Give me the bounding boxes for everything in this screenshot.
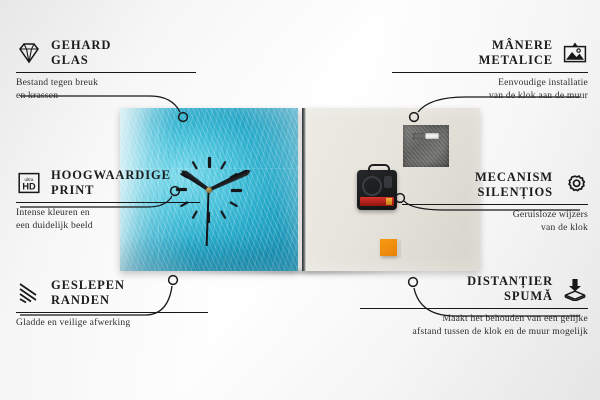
spacer-stack-icon	[562, 277, 588, 301]
callout-header: GEHARD GLAS	[16, 38, 196, 69]
metal-hanger-plate	[403, 125, 449, 167]
callout-manere-metalice: MÂNERE METALICE Eenvoudige installatie v…	[392, 38, 588, 103]
callout-header: GESLEPEN RANDEN	[16, 278, 208, 309]
callout-title: HOOGWAARDIGE PRINT	[51, 168, 171, 199]
callout-distantier-spuma: DISTANȚIER SPUMĂ Maakt het behouden van …	[360, 274, 588, 339]
infographic-canvas: GEHARD GLAS Bestand tegen breuk en krass…	[0, 0, 600, 400]
diamond-icon	[16, 41, 42, 65]
quartz-movement	[357, 170, 397, 210]
callout-description: Geruisloze wijzers van de klok	[402, 209, 588, 235]
callout-rule	[16, 202, 200, 203]
callout-header: MECANISM SILENȚIOS	[402, 170, 588, 201]
svg-text:HD: HD	[22, 182, 36, 192]
hanger-loop	[368, 164, 390, 175]
callout-rule	[360, 308, 588, 309]
ultra-hd-icon: ultra HD	[16, 171, 42, 195]
callout-description: Bestand tegen breuk en krassen	[16, 77, 196, 103]
movement-knob	[384, 176, 392, 188]
callout-header: MÂNERE METALICE	[392, 38, 588, 69]
hanger-slot	[413, 133, 439, 139]
callout-description: Intense kleuren en een duidelijk beeld	[16, 207, 200, 233]
callout-title: DISTANȚIER SPUMĂ	[467, 274, 553, 305]
beveled-edges-icon	[16, 281, 42, 305]
gear-icon	[562, 173, 588, 197]
clock-center-cap	[206, 187, 212, 193]
callout-hoogwaardige-print: ultra HD HOOGWAARDIGE PRINT Intense kleu…	[16, 168, 200, 233]
callout-rule	[16, 72, 196, 73]
callout-description: Gladde en veilige afwerking	[16, 317, 208, 330]
callout-description: Maakt het behouden van een gelijke afsta…	[360, 313, 588, 339]
movement-dial	[362, 176, 382, 196]
callout-title: GEHARD GLAS	[51, 38, 111, 69]
callout-rule	[392, 72, 588, 73]
wall-frame-icon	[562, 41, 588, 65]
callout-description: Eenvoudige installatie van de klok aan d…	[392, 77, 588, 103]
callout-gehard-glas: GEHARD GLAS Bestand tegen breuk en krass…	[16, 38, 196, 103]
callout-title: MÂNERE METALICE	[479, 38, 553, 69]
callout-header: ultra HD HOOGWAARDIGE PRINT	[16, 168, 200, 199]
callout-title: GESLEPEN RANDEN	[51, 278, 125, 309]
callout-geslepen-randen: GESLEPEN RANDEN Gladde en veilige afwerk…	[16, 278, 208, 330]
aa-battery	[360, 197, 394, 206]
panel-edge	[302, 108, 306, 271]
callout-header: DISTANȚIER SPUMĂ	[360, 274, 588, 305]
orange-foam-spacer	[380, 239, 397, 256]
callout-rule	[16, 312, 208, 313]
callout-mecanism-silentios: MECANISM SILENȚIOS Geruisloze wijzers va…	[402, 170, 588, 235]
callout-rule	[402, 204, 588, 205]
callout-title: MECANISM SILENȚIOS	[475, 170, 553, 201]
